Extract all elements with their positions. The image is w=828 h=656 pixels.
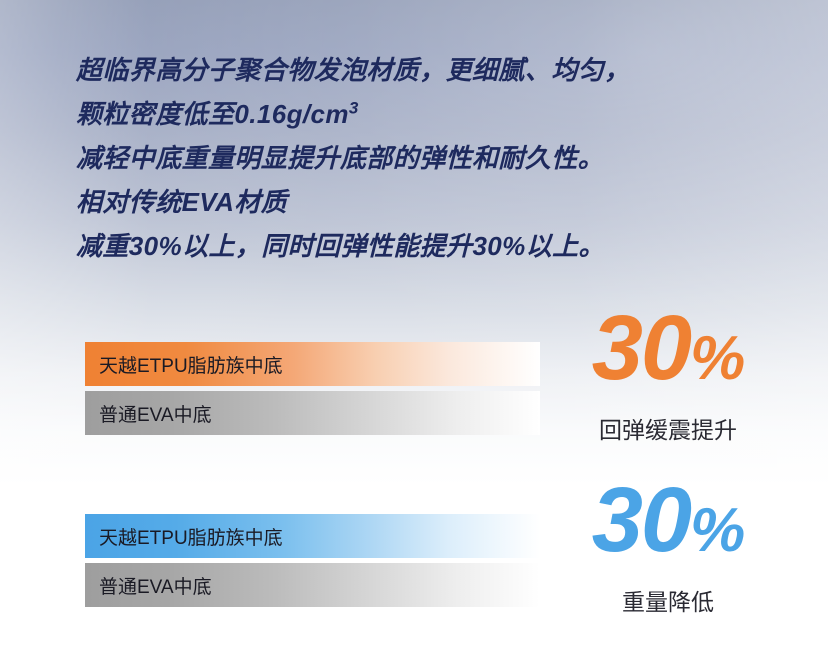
product-feature-poster: 超临界高分子聚合物发泡材质，更细腻、均匀， 颗粒密度低至0.16g/cm3 减轻… [0, 0, 828, 656]
headline-line-5: 减重30%以上，同时回弹性能提升30%以上。 [76, 224, 776, 268]
stat-callout-rebound: 30% 回弹缓震提升 [548, 300, 788, 445]
stat-number-rebound: 30% [548, 300, 788, 407]
bar-label-etpu: 天越ETPU脂肪族中底 [85, 351, 283, 378]
headline-line-1: 超临界高分子聚合物发泡材质，更细腻、均匀， [76, 48, 776, 92]
stat-caption-rebound: 回弹缓震提升 [548, 411, 788, 445]
bar-row-eva: 普通EVA中底 [85, 563, 540, 607]
stat-unit-rebound: % [690, 324, 744, 393]
bar-chart-weight: 天越ETPU脂肪族中底 普通EVA中底 [85, 514, 540, 612]
bar-label-etpu: 天越ETPU脂肪族中底 [85, 523, 283, 550]
headline-superscript: 3 [349, 98, 359, 117]
headline-line-4: 相对传统EVA材质 [76, 180, 776, 224]
stat-value-weight: 30 [592, 469, 690, 571]
bar-row-etpu: 天越ETPU脂肪族中底 [85, 342, 540, 386]
headline-line-2-text: 颗粒密度低至0.16g/cm [76, 99, 349, 129]
bar-row-eva: 普通EVA中底 [85, 391, 540, 435]
stat-caption-weight: 重量降低 [548, 583, 788, 617]
bar-label-eva: 普通EVA中底 [85, 400, 212, 427]
stat-number-weight: 30% [548, 472, 788, 579]
stat-unit-weight: % [690, 496, 744, 565]
stat-value-rebound: 30 [592, 297, 690, 399]
bar-chart-rebound: 天越ETPU脂肪族中底 普通EVA中底 [85, 342, 540, 440]
bar-row-etpu: 天越ETPU脂肪族中底 [85, 514, 540, 558]
headline-line-2: 颗粒密度低至0.16g/cm3 [76, 92, 776, 136]
headline-block: 超临界高分子聚合物发泡材质，更细腻、均匀， 颗粒密度低至0.16g/cm3 减轻… [76, 48, 776, 268]
stat-callout-weight: 30% 重量降低 [548, 472, 788, 617]
headline-line-3: 减轻中底重量明显提升底部的弹性和耐久性。 [76, 136, 776, 180]
bar-label-eva: 普通EVA中底 [85, 572, 212, 599]
